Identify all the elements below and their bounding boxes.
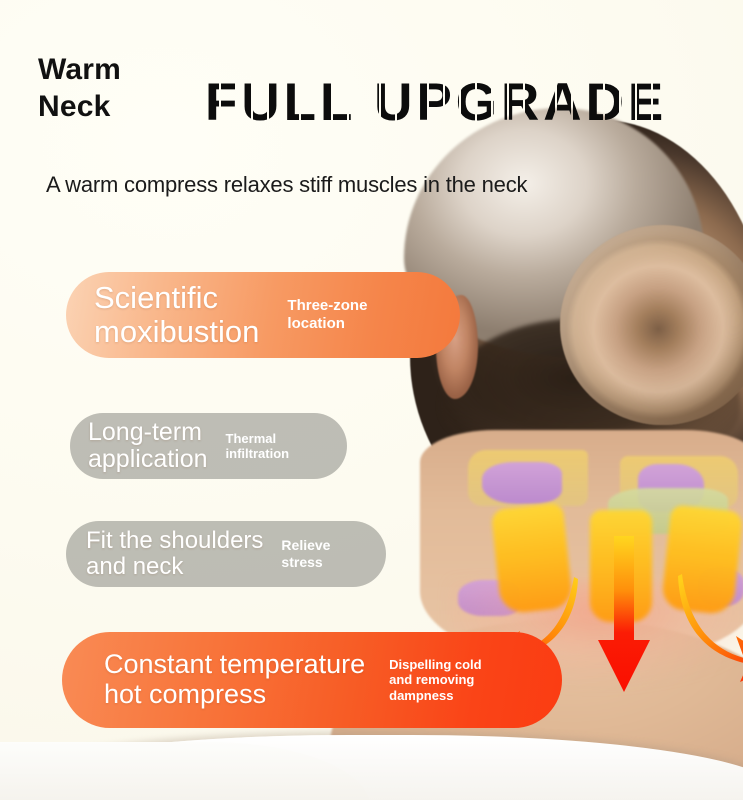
brand-line-2: Neck xyxy=(38,89,121,126)
feature-longterm-tag-line1: Thermal xyxy=(226,431,290,446)
heat-arrow-right-icon xyxy=(678,572,743,682)
feature-badge-longterm[interactable]: Long-term application Thermal infiltrati… xyxy=(70,413,347,479)
feature-fit-tag-line1: Relieve xyxy=(281,537,330,554)
brand-line-1: Warm xyxy=(38,53,121,86)
muscle-purple-left xyxy=(482,462,562,504)
feature-longterm-title: Long-term application xyxy=(88,419,208,474)
page-title: FULL UPGRADE xyxy=(205,72,667,133)
feature-moxibustion-tag: Three-zone location xyxy=(287,297,367,332)
feature-moxibustion-tag-line2: location xyxy=(287,315,367,333)
feature-constant-title: Constant temperature hot compress xyxy=(104,650,365,709)
feature-constant-title-line1: Constant temperature xyxy=(104,650,365,680)
feature-fit-tag-line2: stress xyxy=(281,554,330,571)
heat-arrow-center-icon xyxy=(596,536,652,694)
feature-moxibustion-title: Scientific moxibustion xyxy=(94,281,259,349)
feature-longterm-title-line2: application xyxy=(88,446,208,474)
feature-constant-tag-line3: dampness xyxy=(389,688,481,703)
feature-constant-tag: Dispelling cold and removing dampness xyxy=(389,657,481,703)
subtitle: A warm compress relaxes stiff muscles in… xyxy=(46,172,527,198)
product-poster: Warm Neck FULL UPGRADE A warm compress r… xyxy=(0,0,743,800)
feature-longterm-title-line1: Long-term xyxy=(88,419,208,447)
brand-wordmark: Warm Neck xyxy=(38,52,121,125)
feature-fit-title-line1: Fit the shoulders xyxy=(86,528,263,554)
feature-moxibustion-title-line1: Scientific xyxy=(94,281,259,315)
feature-badge-moxibustion[interactable]: Scientific moxibustion Three-zone locati… xyxy=(66,272,460,358)
feature-fit-title: Fit the shoulders and neck xyxy=(86,528,263,581)
feature-moxibustion-title-line2: moxibustion xyxy=(94,315,259,349)
feature-badge-fit[interactable]: Fit the shoulders and neck Relieve stres… xyxy=(66,521,386,587)
feature-fit-tag: Relieve stress xyxy=(281,537,330,570)
feature-constant-tag-line2: and removing xyxy=(389,672,481,687)
feature-longterm-tag-line2: infiltration xyxy=(226,446,290,461)
feature-badge-constant[interactable]: Constant temperature hot compress Dispel… xyxy=(62,632,562,728)
feature-longterm-tag: Thermal infiltration xyxy=(226,431,290,462)
feature-fit-title-line2: and neck xyxy=(86,554,263,580)
feature-constant-tag-line1: Dispelling cold xyxy=(389,657,481,672)
feature-constant-title-line2: hot compress xyxy=(104,680,365,710)
feature-moxibustion-tag-line1: Three-zone xyxy=(287,297,367,315)
